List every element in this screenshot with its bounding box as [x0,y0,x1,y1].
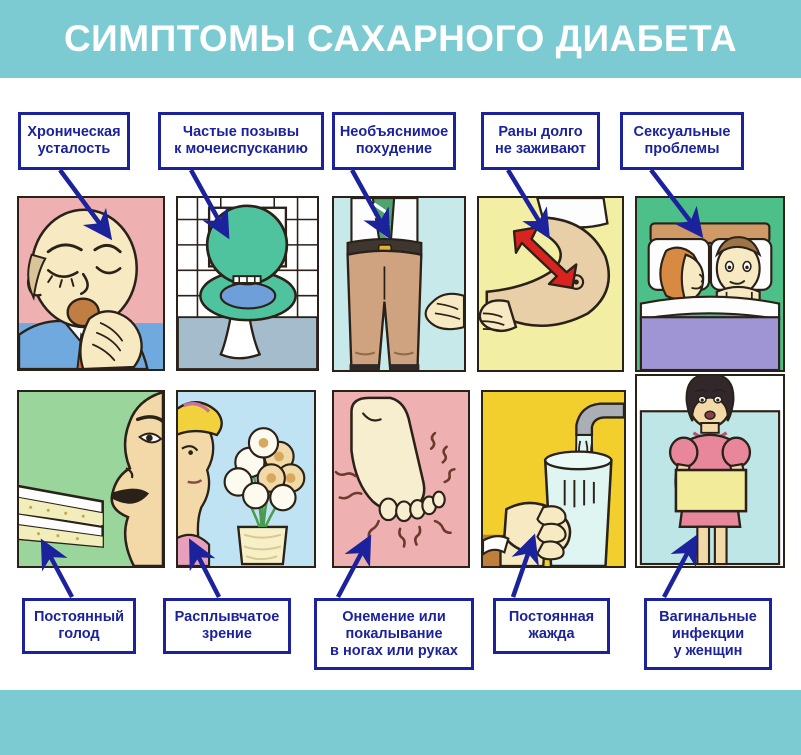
label-line-2: похудение [340,141,448,158]
label-line-1: Вагинальные [659,609,757,626]
panel-toilet [176,196,319,371]
label-constant-thirst[interactable]: Постоянная жажда [493,598,610,654]
label-line-2: инфекции [659,626,757,643]
panel-blurry-flowers [176,390,316,568]
cake-eating-illustration [19,392,163,566]
panel-water-glass [481,390,626,568]
label-line-3: у женщин [659,643,757,660]
label-sexual-problems[interactable]: Сексуальные проблемы [620,112,744,170]
page-title: СИМПТОМЫ САХАРНОГО ДИАБЕТА [0,0,801,78]
infographic-page: СИМПТОМЫ САХАРНОГО ДИАБЕТА Хрони [0,0,801,755]
label-line-2: голод [34,626,124,643]
label-vaginal-infections[interactable]: Вагинальные инфекции у женщин [644,598,772,670]
panel-tingling-foot [332,390,470,568]
label-line-2: покалывание [330,626,458,643]
label-unexplained-weight-loss[interactable]: Необъяснимое похудение [332,112,456,170]
label-blurred-vision[interactable]: Расплывчатое зрение [163,598,291,654]
label-slow-healing-wounds[interactable]: Раны долго не заживают [481,112,600,170]
label-chronic-fatigue[interactable]: Хроническая усталость [18,112,130,170]
label-line-2: усталость [27,141,120,158]
arm-wound-illustration [479,198,622,370]
label-numbness-tingling[interactable]: Онемение или покалывание в ногах или рук… [314,598,474,670]
water-glass-illustration [483,392,624,566]
panel-arm-wound [477,196,624,372]
label-line-1: Раны долго [495,124,586,141]
panel-tired-man [17,196,165,371]
loose-pants-illustration [334,198,464,370]
label-line-2: жажда [509,626,594,643]
label-line-3: в ногах или руках [330,643,458,660]
label-line-1: Постоянная [509,609,594,626]
footer-bar [0,690,801,755]
label-line-2: к мочеиспусканию [174,141,308,158]
label-line-1: Сексуальные [634,124,731,141]
label-line-1: Необъяснимое [340,124,448,141]
label-line-1: Частые позывы [174,124,308,141]
label-frequent-urination[interactable]: Частые позывы к мочеиспусканию [158,112,324,170]
woman-sign-illustration [637,376,783,566]
toilet-illustration [178,198,317,369]
label-line-1: Постоянный [34,609,124,626]
panel-couple-in-bed [635,196,785,372]
label-line-1: Онемение или [330,609,458,626]
couple-in-bed-illustration [637,198,783,370]
label-line-2: зрение [175,626,280,643]
label-line-2: проблемы [634,141,731,158]
tired-man-illustration [19,198,163,369]
label-line-1: Хроническая [27,124,120,141]
label-constant-hunger[interactable]: Постоянный голод [22,598,136,654]
panel-loose-pants [332,196,466,372]
tingling-foot-illustration [334,392,468,566]
panel-cake-eating [17,390,165,568]
blurry-flowers-illustration [178,392,314,566]
label-line-2: не заживают [495,141,586,158]
label-line-1: Расплывчатое [175,609,280,626]
panel-woman-sign [635,374,785,568]
